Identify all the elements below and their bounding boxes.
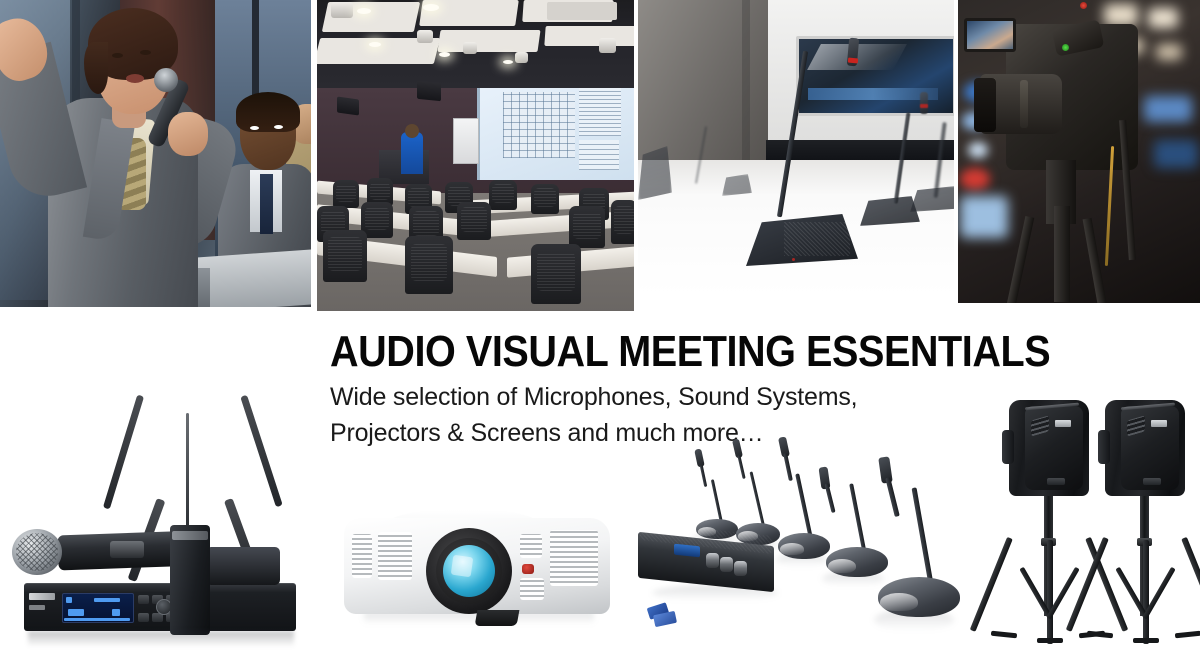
product-data-projector xyxy=(330,490,630,665)
product-powered-speakers-on-stands xyxy=(985,388,1200,666)
control-unit-knob[interactable] xyxy=(706,553,719,568)
control-unit-knob[interactable] xyxy=(720,557,733,572)
photo-professional-video-camera xyxy=(958,0,1200,303)
product-conference-discussion-system xyxy=(630,435,980,660)
photo-training-room-with-projection-screen xyxy=(317,0,634,311)
control-unit-knob[interactable] xyxy=(734,561,747,576)
product-showcase-row xyxy=(0,380,1200,667)
receiver-model-badge xyxy=(29,605,45,610)
product-wireless-microphone-system xyxy=(2,385,320,667)
receiver-brand-badge xyxy=(29,593,55,600)
photo-presenter-with-handheld-microphone xyxy=(0,0,311,307)
speaker-brand-badge xyxy=(1055,420,1071,427)
photo-boardroom-gooseneck-microphones xyxy=(638,0,954,296)
av-marketing-banner: AUDIO VISUAL MEETING ESSENTIALS Wide sel… xyxy=(0,0,1200,667)
photo-strip xyxy=(0,0,1200,312)
speaker-brand-badge xyxy=(1151,420,1167,427)
page-title: AUDIO VISUAL MEETING ESSENTIALS xyxy=(330,330,960,374)
